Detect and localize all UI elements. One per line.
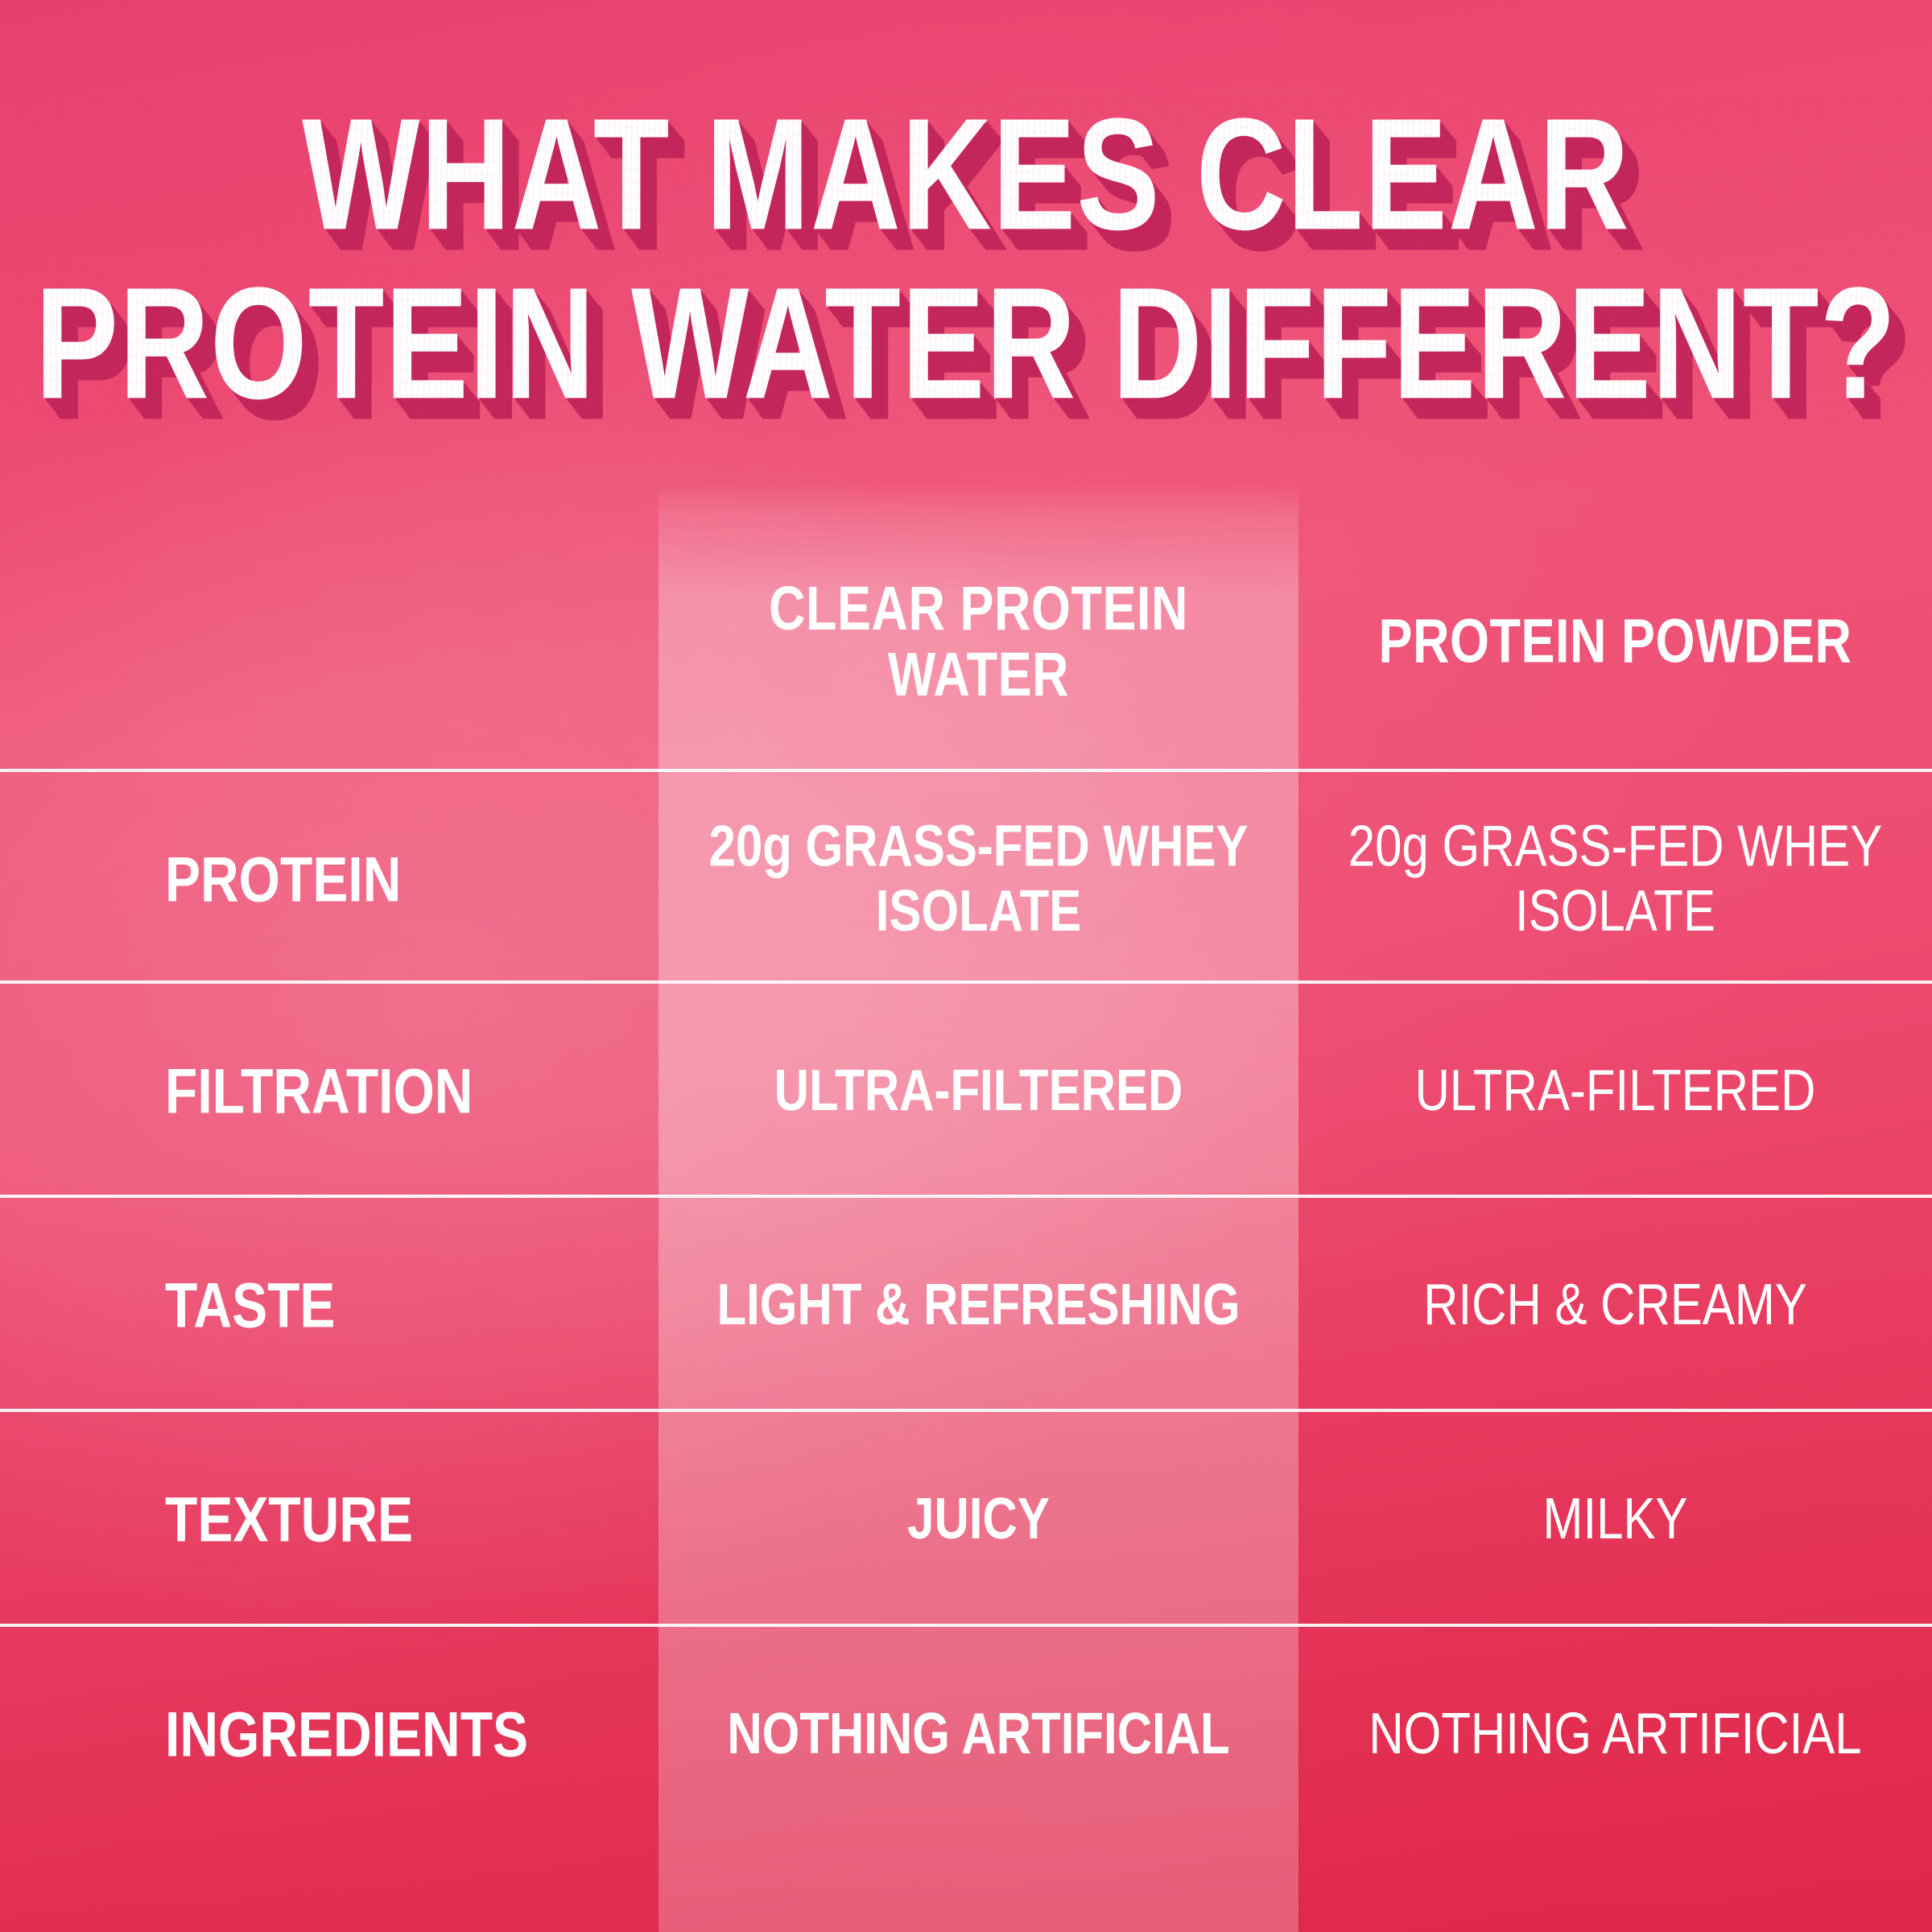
row-label-texture: TEXTURE (0, 1412, 658, 1625)
column-header-protein-powder: PROTEIN POWDER (1298, 536, 1932, 747)
cell-protein-clear-protein-water: 20g GRASS-FED WHEY ISOLATE (658, 772, 1298, 985)
cell-taste-protein-powder: RICH & CREAMY (1298, 1198, 1932, 1411)
cell-ingredients-protein-powder: NOTHING ARTIFICIAL (1298, 1627, 1932, 1840)
row-label-ingredients: INGREDIENTS (0, 1627, 658, 1840)
row-label-taste: TASTE (0, 1198, 658, 1411)
row-label-text: PROTEIN (165, 842, 401, 915)
table-row: FILTRATION ULTRA-FILTERED ULTRA-FILTERED (0, 984, 1932, 1197)
cell-text: JUICY (907, 1486, 1050, 1551)
cell-text: NOTHING ARTIFICIAL (1368, 1701, 1861, 1766)
cell-text: RICH & CREAMY (1423, 1272, 1807, 1337)
cell-text: ULTRA-FILTERED (774, 1058, 1183, 1123)
table-row: INGREDIENTS NOTHING ARTIFICIAL NOTHING A… (0, 1627, 1932, 1840)
cell-text: 20g GRASS-FED WHEY ISOLATE (684, 814, 1273, 943)
comparison-table: CLEAR PROTEIN WATER PROTEIN POWDER PROTE… (0, 0, 1932, 1932)
table-row: TEXTURE JUICY MILKY (0, 1412, 1932, 1625)
cell-texture-clear-protein-water: JUICY (658, 1412, 1298, 1625)
row-label-text: TASTE (165, 1268, 335, 1341)
column-header-clear-protein-water: CLEAR PROTEIN WATER (658, 536, 1298, 747)
cell-ingredients-clear-protein-water: NOTHING ARTIFICIAL (658, 1627, 1298, 1840)
cell-text: LIGHT & REFRESHING (716, 1272, 1240, 1337)
cell-filtration-protein-powder: ULTRA-FILTERED (1298, 984, 1932, 1197)
cell-filtration-clear-protein-water: ULTRA-FILTERED (658, 984, 1298, 1197)
cell-protein-protein-powder: 20g GRASS-FED WHEY ISOLATE (1298, 772, 1932, 985)
table-row: TASTE LIGHT & REFRESHING RICH & CREAMY (0, 1198, 1932, 1411)
row-label-text: TEXTURE (165, 1482, 413, 1555)
cell-text: 20g GRASS-FED WHEY ISOLATE (1324, 814, 1906, 943)
cell-text: MILKY (1542, 1486, 1687, 1551)
cell-text: ULTRA-FILTERED (1415, 1058, 1816, 1123)
cell-texture-protein-powder: MILKY (1298, 1412, 1932, 1625)
table-header-row: CLEAR PROTEIN WATER PROTEIN POWDER (0, 555, 1932, 769)
cell-taste-clear-protein-water: LIGHT & REFRESHING (658, 1198, 1298, 1411)
row-label-text: FILTRATION (165, 1054, 473, 1127)
row-label-text: INGREDIENTS (165, 1697, 528, 1770)
cell-text: NOTHING ARTIFICIAL (727, 1701, 1229, 1766)
row-label-protein: PROTEIN (0, 772, 658, 985)
table-row: PROTEIN 20g GRASS-FED WHEY ISOLATE 20g G… (0, 772, 1932, 985)
row-label-filtration: FILTRATION (0, 984, 658, 1197)
